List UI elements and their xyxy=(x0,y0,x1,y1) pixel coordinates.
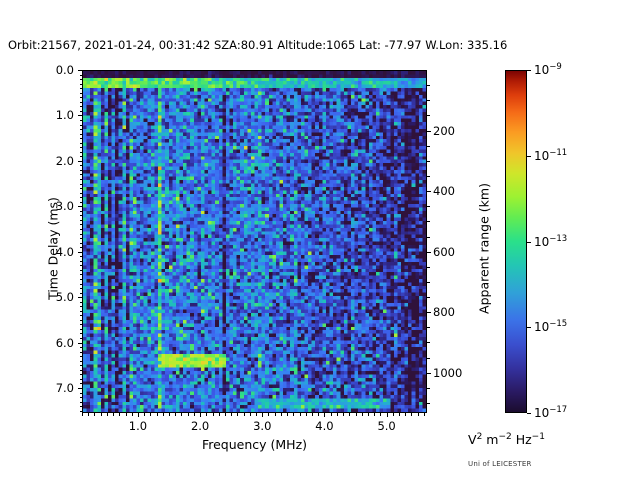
y-right-tick-minor xyxy=(427,221,430,222)
x-tick-minor xyxy=(132,413,133,416)
x-tick-label: 2.0 xyxy=(191,419,209,433)
y-tick-minor xyxy=(80,138,83,139)
x-tick-minor xyxy=(225,413,226,416)
y-tick-major xyxy=(78,115,82,116)
x-tick-minor xyxy=(119,413,120,416)
y-tick-minor xyxy=(80,75,83,76)
y-tick-minor xyxy=(80,406,83,407)
x-tick-minor xyxy=(337,413,338,416)
y-tick-minor xyxy=(80,197,83,198)
x-tick-minor xyxy=(150,413,151,416)
x-tick-minor xyxy=(88,413,89,416)
x-tick-major xyxy=(387,413,388,417)
x-tick-minor xyxy=(231,413,232,416)
y-tick-minor xyxy=(80,315,83,316)
y-tick-major xyxy=(78,206,82,207)
x-tick-minor xyxy=(250,413,251,416)
x-tick-minor xyxy=(411,413,412,416)
y-tick-minor xyxy=(80,179,83,180)
y-tick-minor xyxy=(80,88,83,89)
x-tick-minor xyxy=(268,413,269,416)
x-tick-minor xyxy=(181,413,182,416)
x-tick-minor xyxy=(275,413,276,416)
y-tick-minor xyxy=(80,211,83,212)
y-right-tick-minor xyxy=(427,388,430,389)
x-tick-minor xyxy=(157,413,158,416)
y-tick-minor xyxy=(80,302,83,303)
y-tick-major xyxy=(78,297,82,298)
y-tick-minor xyxy=(80,284,83,285)
x-tick-minor xyxy=(213,413,214,416)
y-tick-major xyxy=(78,252,82,253)
colorbar-units-label: V2 m−2 Hz−1 xyxy=(468,432,545,447)
x-tick-minor xyxy=(362,413,363,416)
heatmap-image xyxy=(83,71,426,412)
x-tick-minor xyxy=(281,413,282,416)
x-tick-minor xyxy=(107,413,108,416)
y-tick-minor xyxy=(80,288,83,289)
x-tick-minor xyxy=(194,413,195,416)
y-right-tick-major xyxy=(427,373,431,374)
colorbar-tick-label: 10−17 xyxy=(534,406,567,420)
y-tick-minor xyxy=(80,356,83,357)
y-tick-minor xyxy=(80,247,83,248)
y-tick-minor xyxy=(80,93,83,94)
y-tick-minor xyxy=(80,293,83,294)
colorbar-tick-label: 10−9 xyxy=(534,63,562,77)
colorbar-tick xyxy=(527,327,531,328)
y-tick-minor xyxy=(80,320,83,321)
x-tick-minor xyxy=(418,413,419,416)
y-tick-minor xyxy=(80,188,83,189)
y-right-tick-minor xyxy=(427,85,430,86)
colorbar-tick xyxy=(527,242,531,243)
y-right-tick-minor xyxy=(427,282,430,283)
y-right-tick-major xyxy=(427,131,431,132)
x-tick-minor xyxy=(287,413,288,416)
y-tick-minor xyxy=(80,215,83,216)
y-tick-label: 6.0 xyxy=(56,336,74,350)
y-tick-major xyxy=(78,70,82,71)
y-axis-right-label: Apparent range (km) xyxy=(477,169,492,329)
y-tick-minor xyxy=(80,238,83,239)
x-tick-minor xyxy=(349,413,350,416)
colorbar-tick xyxy=(527,413,531,414)
y-tick-minor xyxy=(80,97,83,98)
y-tick-minor xyxy=(80,361,83,362)
x-axis-label: Frequency (MHz) xyxy=(82,437,427,452)
y-right-tick-minor xyxy=(427,327,430,328)
y-tick-minor xyxy=(80,397,83,398)
y-tick-minor xyxy=(80,152,83,153)
y-right-tick-minor xyxy=(427,358,430,359)
y-tick-minor xyxy=(80,111,83,112)
y-right-tick-label: 600 xyxy=(433,245,455,259)
x-tick-minor xyxy=(113,413,114,416)
ionogram-heatmap-axes[interactable] xyxy=(82,70,427,413)
x-tick-minor xyxy=(219,413,220,416)
y-tick-minor xyxy=(80,274,83,275)
y-tick-minor xyxy=(80,147,83,148)
x-tick-minor xyxy=(101,413,102,416)
x-tick-minor xyxy=(306,413,307,416)
y-tick-minor xyxy=(80,170,83,171)
y-tick-minor xyxy=(80,79,83,80)
x-tick-minor xyxy=(393,413,394,416)
y-tick-minor xyxy=(80,393,83,394)
y-tick-minor xyxy=(80,129,83,130)
y-right-tick-label: 200 xyxy=(433,124,455,138)
y-right-tick-minor xyxy=(427,237,430,238)
colorbar-tick xyxy=(527,70,531,71)
y-tick-minor xyxy=(80,125,83,126)
x-tick-minor xyxy=(399,413,400,416)
y-tick-major xyxy=(78,161,82,162)
institution-credit: Uni of LEICESTER xyxy=(468,460,532,468)
y-right-tick-minor xyxy=(427,146,430,147)
x-tick-minor xyxy=(188,413,189,416)
y-tick-minor xyxy=(80,324,83,325)
x-tick-minor xyxy=(331,413,332,416)
y-right-tick-major xyxy=(427,312,431,313)
y-tick-minor xyxy=(80,120,83,121)
x-tick-minor xyxy=(343,413,344,416)
y-tick-minor xyxy=(80,411,83,412)
y-tick-minor xyxy=(80,265,83,266)
y-tick-minor xyxy=(80,261,83,262)
y-tick-minor xyxy=(80,279,83,280)
x-tick-minor xyxy=(206,413,207,416)
y-tick-label: 2.0 xyxy=(56,154,74,168)
y-right-tick-minor xyxy=(427,403,430,404)
x-tick-minor xyxy=(318,413,319,416)
y-tick-minor xyxy=(80,193,83,194)
colorbar-tick xyxy=(527,156,531,157)
colorbar-tick-label: 10−11 xyxy=(534,149,567,163)
x-tick-minor xyxy=(82,413,83,416)
y-tick-major xyxy=(78,388,82,389)
y-tick-minor xyxy=(80,338,83,339)
y-tick-minor xyxy=(80,184,83,185)
x-tick-minor xyxy=(126,413,127,416)
y-right-tick-minor xyxy=(427,297,430,298)
y-tick-minor xyxy=(80,365,83,366)
y-tick-minor xyxy=(80,174,83,175)
x-tick-minor xyxy=(244,413,245,416)
colorbar-tick-label: 10−15 xyxy=(534,320,567,334)
y-right-tick-minor xyxy=(427,342,430,343)
x-tick-minor xyxy=(300,413,301,416)
x-tick-minor xyxy=(175,413,176,416)
x-tick-major xyxy=(262,413,263,417)
y-tick-minor xyxy=(80,370,83,371)
y-axis-label: Time Delay (ms) xyxy=(46,169,61,329)
y-tick-minor xyxy=(80,234,83,235)
y-tick-minor xyxy=(80,134,83,135)
y-right-tick-minor xyxy=(427,161,430,162)
y-tick-minor xyxy=(80,347,83,348)
y-tick-label: 1.0 xyxy=(56,108,74,122)
y-tick-major xyxy=(78,343,82,344)
y-tick-minor xyxy=(80,84,83,85)
x-tick-minor xyxy=(368,413,369,416)
x-tick-minor xyxy=(293,413,294,416)
x-tick-label: 4.0 xyxy=(315,419,333,433)
figure-canvas: Orbit:21567, 2021-01-24, 00:31:42 SZA:80… xyxy=(0,0,640,480)
y-tick-minor xyxy=(80,229,83,230)
y-tick-minor xyxy=(80,220,83,221)
page-title: Orbit:21567, 2021-01-24, 00:31:42 SZA:80… xyxy=(8,38,507,52)
y-tick-minor xyxy=(80,402,83,403)
x-tick-major xyxy=(138,413,139,417)
y-right-tick-label: 1000 xyxy=(433,366,462,380)
y-tick-minor xyxy=(80,243,83,244)
x-tick-minor xyxy=(169,413,170,416)
y-tick-minor xyxy=(80,156,83,157)
x-tick-label: 5.0 xyxy=(377,419,395,433)
y-right-tick-major xyxy=(427,191,431,192)
y-tick-minor xyxy=(80,224,83,225)
x-tick-minor xyxy=(356,413,357,416)
y-right-tick-minor xyxy=(427,176,430,177)
x-tick-minor xyxy=(256,413,257,416)
y-tick-minor xyxy=(80,165,83,166)
y-tick-minor xyxy=(80,102,83,103)
y-tick-minor xyxy=(80,374,83,375)
x-tick-minor xyxy=(380,413,381,416)
x-tick-minor xyxy=(374,413,375,416)
x-tick-major xyxy=(324,413,325,417)
colorbar-tick-label: 10−13 xyxy=(534,235,567,249)
x-tick-label: 1.0 xyxy=(129,419,147,433)
y-right-tick-minor xyxy=(427,206,430,207)
y-tick-label: 7.0 xyxy=(56,381,74,395)
y-right-tick-minor xyxy=(427,267,430,268)
y-tick-minor xyxy=(80,270,83,271)
y-right-tick-minor xyxy=(427,115,430,116)
y-right-tick-label: 800 xyxy=(433,305,455,319)
y-tick-label: 0.0 xyxy=(56,63,74,77)
x-tick-major xyxy=(200,413,201,417)
y-tick-minor xyxy=(80,143,83,144)
y-tick-minor xyxy=(80,383,83,384)
x-tick-minor xyxy=(405,413,406,416)
x-tick-minor xyxy=(144,413,145,416)
y-tick-minor xyxy=(80,106,83,107)
y-right-tick-major xyxy=(427,252,431,253)
y-tick-minor xyxy=(80,306,83,307)
x-tick-label: 3.0 xyxy=(253,419,271,433)
y-tick-minor xyxy=(80,202,83,203)
y-tick-minor xyxy=(80,352,83,353)
y-tick-minor xyxy=(80,311,83,312)
x-tick-minor xyxy=(312,413,313,416)
y-right-tick-minor xyxy=(427,100,430,101)
y-tick-minor xyxy=(80,333,83,334)
x-tick-minor xyxy=(237,413,238,416)
x-tick-minor xyxy=(163,413,164,416)
colorbar[interactable] xyxy=(505,70,527,413)
y-right-tick-label: 400 xyxy=(433,184,455,198)
y-tick-minor xyxy=(80,329,83,330)
y-tick-minor xyxy=(80,379,83,380)
y-tick-minor xyxy=(80,256,83,257)
x-tick-minor xyxy=(94,413,95,416)
x-tick-minor xyxy=(424,413,425,416)
